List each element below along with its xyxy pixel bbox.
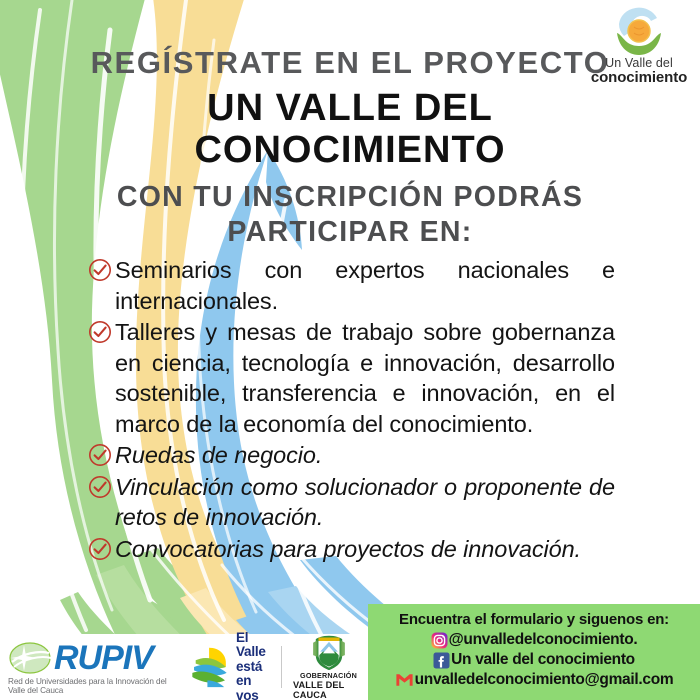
- rupiv-tagline: Red de Universidades para la Innovación …: [8, 677, 183, 695]
- benefits-list: Seminarios con expertos nacionales e int…: [88, 255, 615, 565]
- rupiv-logo: RUPIV Red de Universidades para la Innov…: [0, 634, 183, 700]
- valle-line2: está en: [236, 660, 274, 689]
- list-item: Seminarios con expertos nacionales e int…: [88, 255, 615, 316]
- email-address[interactable]: unvalledelconocimiento@gmail.com: [415, 670, 674, 690]
- contact-row-instagram[interactable]: @unvalledelconocimiento.: [368, 630, 700, 650]
- el-valle-esta-en-vos-icon: [189, 641, 233, 693]
- brand-logo-line2: conocimiento: [584, 70, 694, 86]
- un-valle-del-conocimiento-logo-icon: [608, 2, 670, 58]
- contact-row-email[interactable]: unvalledelconocimiento@gmail.com: [368, 670, 700, 690]
- instagram-icon[interactable]: [431, 632, 448, 649]
- list-item-text: Seminarios con expertos nacionales e int…: [115, 255, 615, 316]
- valle-del-cauca-crest-icon: [308, 634, 350, 671]
- valle-line3: vos: [236, 689, 274, 700]
- gobernacion-line1: GOBERNACIÓN: [300, 671, 357, 680]
- heading-sub-line1: CON TU INSCRIPCIÓN PODRÁS: [0, 178, 700, 217]
- valle-line1: El Valle: [236, 631, 274, 660]
- list-item-text: Convocatorias para proyectos de innovaci…: [115, 534, 615, 565]
- poster-canvas: Un Valle del conocimiento REGÍSTRATE EN …: [0, 0, 700, 700]
- list-item-text: Talleres y mesas de trabajo sobre gobern…: [115, 317, 615, 439]
- check-circle-icon: [88, 320, 112, 344]
- contact-row-facebook[interactable]: Un valle del conocimiento: [368, 650, 700, 670]
- partner-logo-strip: RUPIV Red de Universidades para la Innov…: [0, 634, 368, 700]
- check-circle-icon: [88, 258, 112, 282]
- partner-divider: [281, 646, 282, 688]
- instagram-handle[interactable]: @unvalledelconocimiento.: [449, 630, 638, 650]
- gmail-icon[interactable]: [395, 672, 414, 688]
- list-item: Vinculación como solucionador o proponen…: [88, 472, 615, 533]
- facebook-page-name[interactable]: Un valle del conocimiento: [451, 650, 635, 670]
- facebook-icon[interactable]: [433, 652, 450, 669]
- heading-main-line1: UN VALLE DEL: [0, 86, 700, 130]
- el-valle-esta-en-vos-logo: El Valle está en vos: [183, 634, 274, 700]
- list-item: Ruedas de negocio.: [88, 440, 615, 471]
- check-circle-icon: [88, 537, 112, 561]
- gobernacion-line2: VALLE DEL CAUCA: [293, 680, 364, 700]
- el-valle-esta-en-vos-text: El Valle está en vos: [236, 631, 274, 700]
- check-circle-icon: [88, 475, 112, 499]
- brand-logo-line1: Un Valle del: [584, 56, 694, 70]
- list-item: Talleres y mesas de trabajo sobre gobern…: [88, 317, 615, 439]
- heading-sub-line2: PARTICIPAR EN:: [0, 213, 700, 252]
- gobernacion-valle-del-cauca-logo: GOBERNACIÓN VALLE DEL CAUCA: [289, 634, 368, 700]
- list-item: Convocatorias para proyectos de innovaci…: [88, 534, 615, 565]
- contact-heading: Encuentra el formulario y siguenos en:: [368, 610, 700, 630]
- contact-box: Encuentra el formulario y siguenos en: @…: [368, 604, 700, 700]
- rupiv-wordmark: RUPIV: [54, 641, 153, 675]
- brand-logo: Un Valle del conocimiento: [584, 2, 694, 86]
- list-item-text: Vinculación como solucionador o proponen…: [115, 472, 615, 533]
- list-item-text: Ruedas de negocio.: [115, 440, 615, 471]
- rupiv-globe-icon: [8, 640, 54, 676]
- check-circle-icon: [88, 443, 112, 467]
- heading-main-line2: CONOCIMIENTO: [0, 128, 700, 172]
